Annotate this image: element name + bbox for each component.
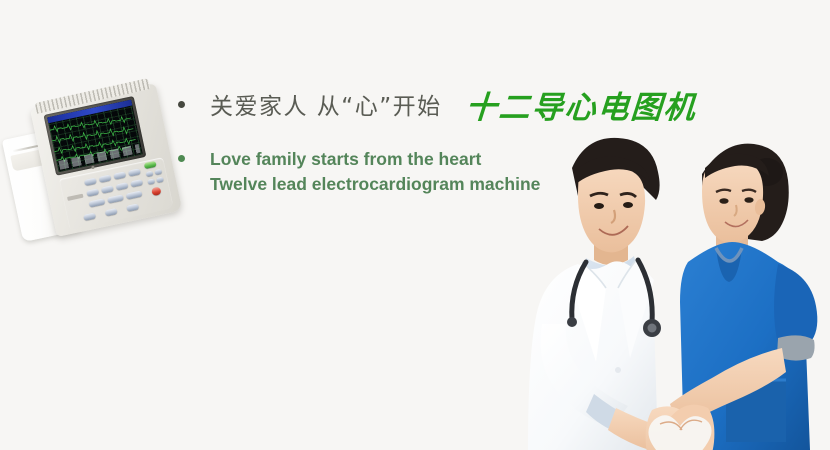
nurse-sleeve-right bbox=[774, 264, 817, 344]
keypad-key[interactable] bbox=[116, 182, 129, 191]
arrow-left-key[interactable] bbox=[156, 177, 163, 184]
keypad-key[interactable] bbox=[105, 208, 118, 217]
keypad-key[interactable] bbox=[101, 185, 114, 194]
model-label bbox=[67, 194, 83, 201]
bullet-point-icon bbox=[178, 101, 185, 108]
bullet-point-icon bbox=[178, 155, 185, 162]
stethoscope-earpiece bbox=[567, 317, 577, 327]
doctor-eye-left bbox=[594, 203, 604, 209]
promo-banner: 关爱家人 从“心”开始 十二导心电图机 Love family starts f… bbox=[0, 0, 830, 450]
keypad-key[interactable] bbox=[107, 194, 124, 203]
keypad-key[interactable] bbox=[128, 168, 141, 177]
arrow-down-key[interactable] bbox=[147, 179, 154, 186]
nurse-eye-right bbox=[744, 197, 753, 203]
keypad-key[interactable] bbox=[113, 171, 126, 180]
keypad-key[interactable] bbox=[86, 188, 99, 197]
subline-english-line-2: Twelve lead electrocardiogram machine bbox=[210, 174, 540, 194]
ecg-machine-image bbox=[6, 88, 178, 233]
keypad-key[interactable] bbox=[126, 190, 143, 199]
doctor-coat-button bbox=[615, 367, 621, 373]
heart-hands-gesture bbox=[646, 405, 715, 450]
arrow-right-key[interactable] bbox=[154, 169, 161, 176]
keypad-key[interactable] bbox=[88, 198, 105, 207]
nurse-figure bbox=[670, 144, 817, 450]
keypad-key[interactable] bbox=[84, 178, 97, 187]
keypad-key[interactable] bbox=[126, 203, 139, 212]
subline-english-line-1: Love family starts from the heart bbox=[210, 149, 481, 169]
nurse-eye-left bbox=[719, 198, 728, 204]
start-key[interactable] bbox=[144, 161, 157, 170]
stop-key[interactable] bbox=[151, 186, 161, 196]
doctor-eye-right bbox=[623, 202, 633, 208]
subline-english: Love family starts from the heart Twelve… bbox=[210, 147, 540, 197]
keypad-key[interactable] bbox=[99, 174, 112, 183]
doctor-figure bbox=[528, 138, 661, 450]
power-indicator-led bbox=[91, 166, 94, 169]
stethoscope-diaphragm bbox=[648, 324, 657, 333]
arrow-up-key[interactable] bbox=[146, 171, 153, 178]
keypad-key[interactable] bbox=[130, 179, 143, 188]
keypad-key[interactable] bbox=[83, 213, 96, 222]
medical-staff-photo bbox=[520, 112, 830, 450]
headline-chinese: 关爱家人 从“心”开始 bbox=[210, 87, 442, 121]
